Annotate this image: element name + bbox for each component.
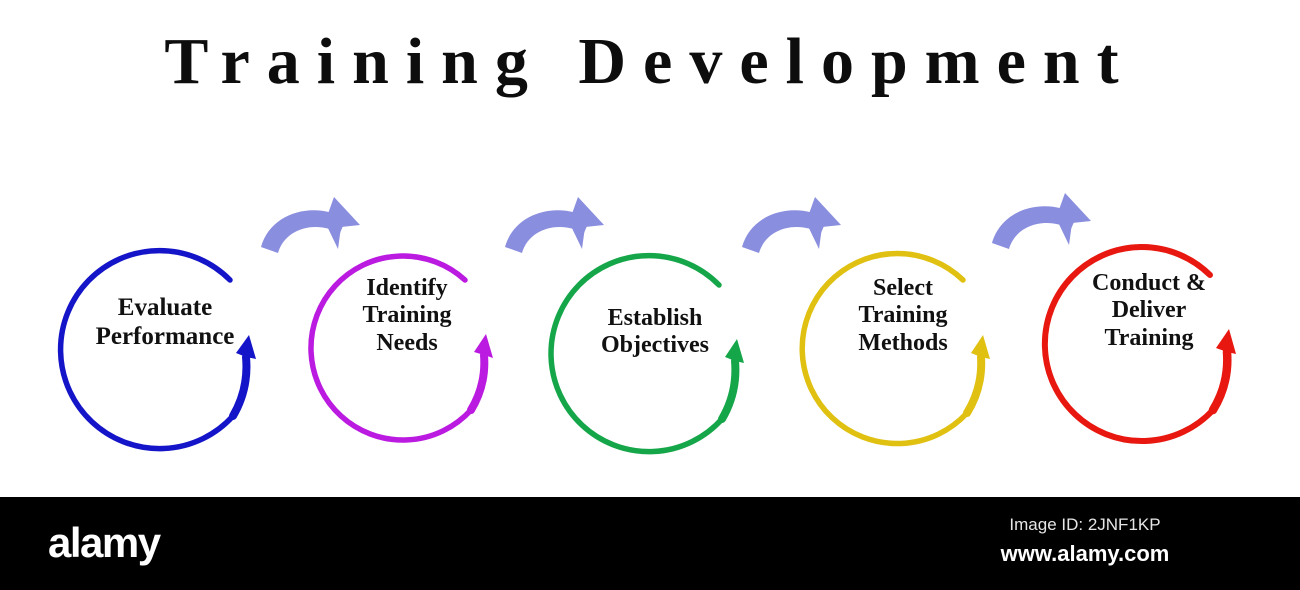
circle-arc-thin-1	[61, 251, 233, 449]
image-id-text: Image ID: 2JNF1KP	[925, 515, 1245, 535]
step-circle-evaluate-performance[interactable]	[61, 251, 256, 449]
watermark-bar: alamy Image ID: 2JNF1KP www.alamy.com	[0, 497, 1300, 590]
circle-arc-thick-3	[722, 361, 735, 419]
diagram-page: Training Development	[0, 0, 1300, 590]
circle-arrowhead-4	[971, 335, 990, 359]
circle-arc-thick-2	[471, 355, 484, 410]
circle-arrowhead-2	[474, 334, 493, 358]
circle-arc-thin-4	[802, 254, 967, 444]
circle-arc-thick-5	[1213, 352, 1227, 410]
page-title: Training Development	[0, 26, 1300, 98]
process-flow-diagram: Evaluate Performance Identify Training N…	[0, 175, 1300, 480]
circle-arc-thin-2	[311, 256, 471, 440]
circle-arc-thin-5	[1045, 247, 1213, 441]
circle-arrowhead-1	[236, 335, 256, 359]
circle-arrowhead-3	[725, 339, 744, 363]
connector-arrow-4	[992, 193, 1091, 249]
circle-arrowhead-5	[1216, 329, 1236, 354]
circle-arc-thick-4	[967, 357, 981, 413]
step-circle-establish-objectives[interactable]	[551, 256, 744, 452]
connector-arrow-2	[505, 197, 604, 253]
alamy-url-text: www.alamy.com	[925, 541, 1245, 567]
step-circle-conduct-deliver-training[interactable]	[1045, 247, 1236, 441]
circle-arc-thick-1	[233, 357, 246, 416]
connector-arrow-3	[742, 197, 841, 253]
circle-arc-thin-3	[551, 256, 722, 452]
step-circle-select-training-methods[interactable]	[802, 254, 990, 444]
connector-arrow-1	[261, 197, 360, 253]
alamy-logo: alamy	[48, 522, 160, 564]
diagram-canvas	[0, 175, 1300, 480]
step-circle-identify-training-needs[interactable]	[311, 256, 493, 440]
